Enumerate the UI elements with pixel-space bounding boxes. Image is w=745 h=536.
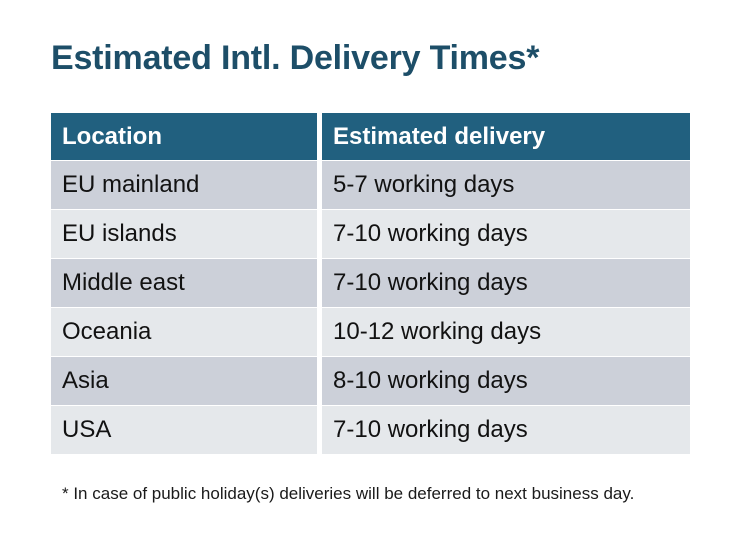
cell-delivery: 7-10 working days: [322, 406, 690, 454]
table-header-row: Location Estimated delivery: [51, 113, 690, 160]
cell-location: Oceania: [51, 308, 317, 356]
cell-location: EU islands: [51, 210, 317, 258]
cell-delivery: 7-10 working days: [322, 210, 690, 258]
cell-delivery: 7-10 working days: [322, 259, 690, 307]
cell-location: EU mainland: [51, 161, 317, 209]
table-row: EU islands 7-10 working days: [51, 210, 690, 258]
table-row: Oceania 10-12 working days: [51, 308, 690, 356]
cell-location: Asia: [51, 357, 317, 405]
cell-location: USA: [51, 406, 317, 454]
page-title: Estimated Intl. Delivery Times*: [51, 38, 539, 78]
delivery-times-page: Estimated Intl. Delivery Times* Location…: [0, 0, 745, 536]
cell-delivery: 5-7 working days: [322, 161, 690, 209]
table-row: EU mainland 5-7 working days: [51, 161, 690, 209]
column-header-location: Location: [51, 113, 317, 160]
delivery-times-table: Location Estimated delivery EU mainland …: [51, 113, 690, 454]
cell-location: Middle east: [51, 259, 317, 307]
footnote-text: * In case of public holiday(s) deliverie…: [62, 483, 634, 505]
column-header-estimated-delivery: Estimated delivery: [322, 113, 690, 160]
cell-delivery: 10-12 working days: [322, 308, 690, 356]
cell-delivery: 8-10 working days: [322, 357, 690, 405]
table-row: Asia 8-10 working days: [51, 357, 690, 405]
table-row: USA 7-10 working days: [51, 406, 690, 454]
table-row: Middle east 7-10 working days: [51, 259, 690, 307]
